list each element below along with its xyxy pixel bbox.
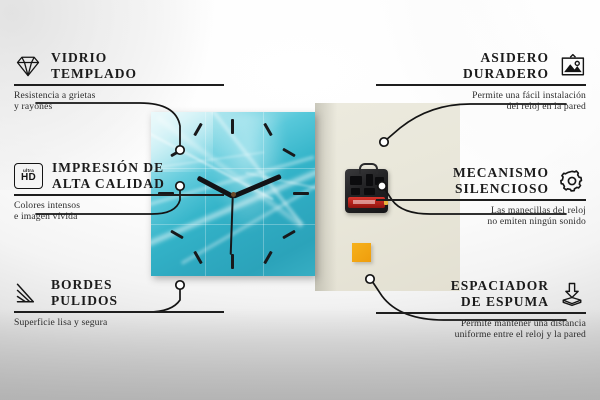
feature-description-line: uniforme entre el reloj y la pared	[364, 329, 586, 341]
foam-spacer-arrow-icon	[558, 281, 586, 307]
feature-description-line: y rayones	[14, 101, 236, 113]
infographic-canvas: VIDRIO TEMPLADO Resistencia a grietas y …	[0, 0, 600, 400]
wall-panel-shadow	[315, 103, 337, 291]
ultra-hd-icon-main-text: HD	[21, 173, 36, 183]
feature-rule	[14, 194, 224, 196]
feature-rule	[14, 311, 224, 313]
feature-tempered-glass: VIDRIO TEMPLADO Resistencia a grietas y …	[14, 50, 236, 113]
feature-title-line: TEMPLADO	[51, 66, 137, 82]
gear-icon	[558, 168, 586, 194]
clock-tick	[231, 254, 234, 269]
feature-rule	[376, 84, 586, 86]
polished-edges-icon	[14, 280, 42, 306]
feature-polished-edges: BORDES PULIDOS Superficie lisa y segura	[14, 277, 236, 328]
clock-tick	[263, 251, 273, 265]
feature-description-line: Las manecillas del reloj	[364, 205, 586, 217]
feature-rule	[376, 312, 586, 314]
feature-rule	[376, 199, 586, 201]
feature-title-line: DE ESPUMA	[451, 294, 549, 310]
feature-hd-print: ultra HD IMPRESIÓN DE ALTA CALIDAD Color…	[14, 160, 236, 223]
feature-description-line: no emiten ningún sonido	[364, 216, 586, 228]
feature-title-line: IMPRESIÓN DE	[52, 160, 165, 176]
feature-title-line: BORDES	[51, 277, 118, 293]
feature-title-line: DURADERO	[463, 66, 549, 82]
feature-description-line: Resistencia a grietas	[14, 90, 236, 102]
feature-title-line: ALTA CALIDAD	[52, 176, 165, 192]
picture-frame-hanger-icon	[558, 53, 586, 79]
feature-description-line: Colores intensos	[14, 200, 236, 212]
feature-title-line: PULIDOS	[51, 293, 118, 309]
feature-description-line: e imagen vívida	[14, 211, 236, 223]
feature-title-line: ASIDERO	[463, 50, 549, 66]
feature-title-line: SILENCIOSO	[453, 181, 549, 197]
feature-description-line: Superficie lisa y segura	[14, 317, 236, 329]
feature-title-line: ESPACIADOR	[451, 278, 549, 294]
ultra-hd-icon: ultra HD	[14, 163, 43, 189]
feature-title-line: MECANISMO	[453, 165, 549, 181]
diamond-icon	[14, 53, 42, 79]
feature-foam-spacer: ESPACIADOR DE ESPUMA Permite mantener un…	[364, 278, 586, 341]
feature-durable-hanger: ASIDERO DURADERO Permite una fácil insta…	[364, 50, 586, 113]
foam-spacer-sample	[352, 243, 371, 262]
feature-title-line: VIDRIO	[51, 50, 137, 66]
feature-rule	[14, 84, 224, 86]
feature-description-line: Permite mantener una distancia	[364, 318, 586, 330]
feature-silent-mechanism: MECANISMO SILENCIOSO Las manecillas del …	[364, 165, 586, 228]
clock-tick	[293, 192, 309, 195]
clock-tick	[231, 119, 234, 134]
feature-description-line: del reloj en la pared	[364, 101, 586, 113]
feature-description-line: Permite una fácil instalación	[364, 90, 586, 102]
